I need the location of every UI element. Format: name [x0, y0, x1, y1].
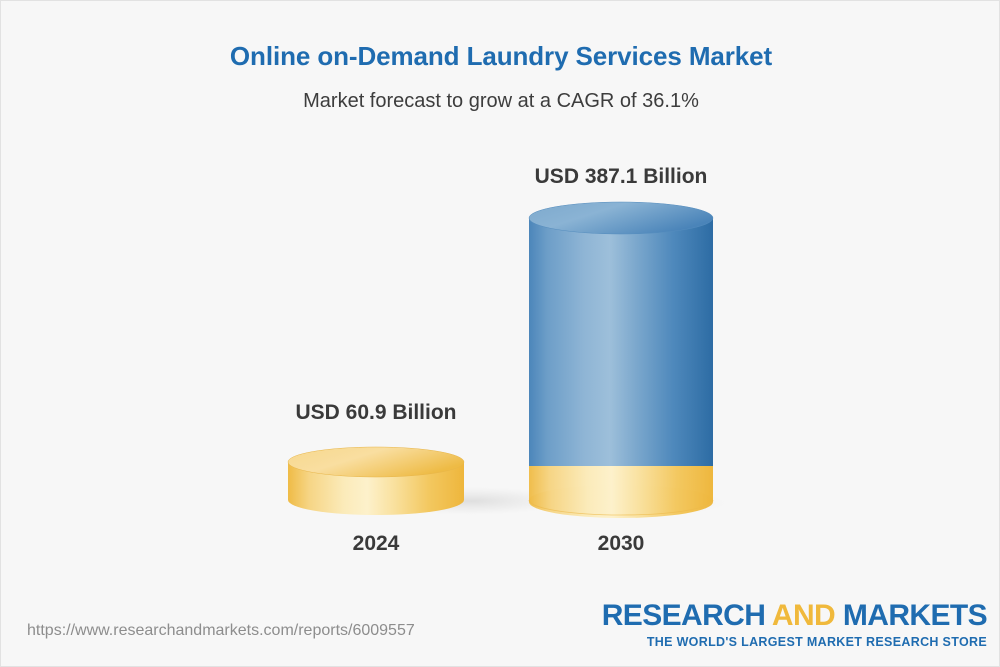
bar-2030-top-cap — [529, 202, 713, 234]
research-and-markets-logo[interactable]: RESEARCH AND MARKETS THE WORLD'S LARGEST… — [602, 601, 987, 649]
logo-word-markets: MARKETS — [843, 599, 987, 632]
bar-2030 — [526, 202, 726, 518]
logo-wordmark: RESEARCH AND MARKETS — [602, 601, 987, 631]
value-label-2024: USD 60.9 Billion — [226, 401, 526, 425]
logo-word-research: RESEARCH — [602, 599, 766, 632]
source-url[interactable]: https://www.researchandmarkets.com/repor… — [27, 622, 415, 640]
logo-tagline: THE WORLD'S LARGEST MARKET RESEARCH STOR… — [602, 636, 987, 649]
bar-chart-plot — [1, 1, 1000, 667]
category-label-2024: 2024 — [266, 532, 486, 556]
logo-word-and: AND — [772, 599, 835, 632]
bar-2024-top-cap — [288, 447, 464, 477]
chart-canvas: Online on-Demand Laundry Services Market… — [0, 0, 1000, 667]
bar-2024 — [288, 447, 567, 515]
value-label-2030: USD 387.1 Billion — [471, 165, 771, 189]
category-label-2030: 2030 — [511, 532, 731, 556]
